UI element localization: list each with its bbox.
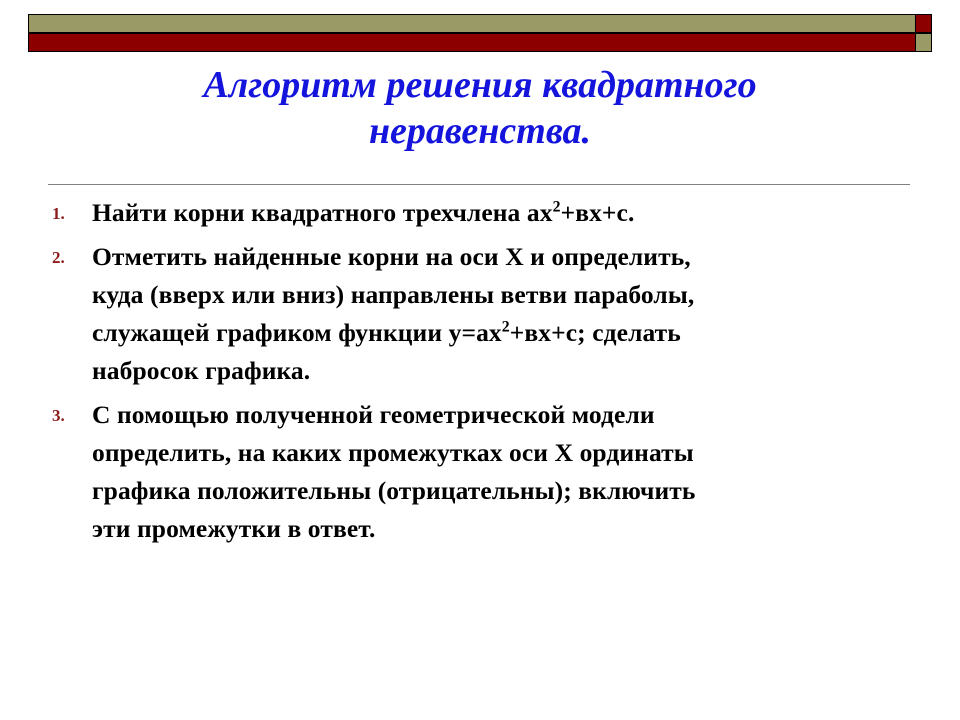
line-text-pre: графика положительны (отрицательны); вкл… [92, 476, 695, 505]
header-bar-bottom-olive-segment [915, 33, 932, 52]
line-text-pre: набросок графика. [92, 356, 310, 385]
slide-title: Алгоритм решения квадратного неравенства… [60, 62, 900, 154]
list-item-line: графика положительны (отрицательны); вкл… [92, 472, 924, 510]
header-bar-bottom [28, 33, 932, 52]
list-item: 2. Отметить найденные корни на оси Х и о… [44, 238, 924, 390]
list-item-text: С помощью полученной геометрической моде… [92, 396, 924, 548]
list-item-number: 1. [44, 194, 92, 232]
list-item-line: набросок графика. [92, 352, 924, 390]
header-bar-top-maroon-segment [915, 14, 932, 33]
line-text-pre: эти промежутки в ответ. [92, 514, 375, 543]
list-item-line: куда (вверх или вниз) направлены ветви п… [92, 276, 924, 314]
line-text-superscript: 2 [502, 319, 510, 336]
list-item-line: определить, на каких промежутках оси Х о… [92, 434, 924, 472]
list-item: 1. Найти корни квадратного трехчлена ах2… [44, 194, 924, 232]
header-bar-bottom-maroon-segment [28, 33, 916, 52]
line-text-pre: Найти корни квадратного трехчлена ах [92, 198, 553, 227]
list-item-line: эти промежутки в ответ. [92, 510, 924, 548]
header-bar-top [28, 14, 932, 33]
slide-title-line-1: Алгоритм решения квадратного [60, 62, 900, 108]
title-divider [48, 184, 910, 185]
slide-canvas: Алгоритм решения квадратного неравенства… [0, 0, 960, 720]
list-item-line: служащей графиком функции у=ах2+вх+с; сд… [92, 314, 924, 352]
list-item-text: Отметить найденные корни на оси Х и опре… [92, 238, 924, 390]
line-text-post: +вх+с; сделать [510, 318, 681, 347]
line-text-pre: определить, на каких промежутках оси Х о… [92, 438, 694, 467]
header-bar-top-olive-segment [28, 14, 916, 33]
list-item-number: 3. [44, 396, 92, 434]
list-item-text: Найти корни квадратного трехчлена ах2+вх… [92, 194, 924, 232]
line-text-post: +вх+с. [561, 198, 635, 227]
header-decoration [28, 14, 932, 52]
list-item: 3. С помощью полученной геометрической м… [44, 396, 924, 548]
line-text-pre: служащей графиком функции у=ах [92, 318, 502, 347]
line-text-pre: Отметить найденные корни на оси Х и опре… [92, 242, 691, 271]
list-item-line: Найти корни квадратного трехчлена ах2+вх… [92, 194, 924, 232]
list-item-line: С помощью полученной геометрической моде… [92, 396, 924, 434]
line-text-pre: С помощью полученной геометрической моде… [92, 400, 655, 429]
line-text-superscript: 2 [553, 199, 561, 216]
line-text-pre: куда (вверх или вниз) направлены ветви п… [92, 280, 694, 309]
algorithm-steps-list: 1. Найти корни квадратного трехчлена ах2… [44, 194, 924, 554]
list-item-number: 2. [44, 238, 92, 276]
slide-title-line-2: неравенства. [60, 108, 900, 154]
list-item-line: Отметить найденные корни на оси Х и опре… [92, 238, 924, 276]
